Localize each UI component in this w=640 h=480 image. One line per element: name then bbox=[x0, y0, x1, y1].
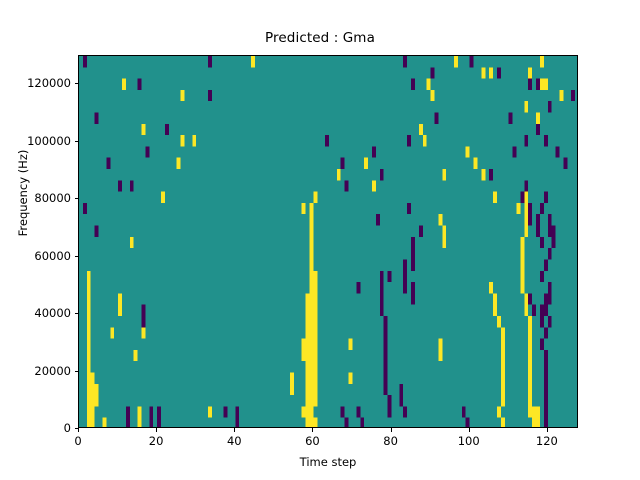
xtick-label-40: 40 bbox=[227, 434, 242, 448]
xtick-label-60: 60 bbox=[305, 434, 320, 448]
ytick-label-120000: 120000 bbox=[0, 76, 71, 90]
xtick-label-120: 120 bbox=[536, 434, 558, 448]
x-axis-label: Time step bbox=[78, 455, 578, 469]
y-axis-label: Frequency (Hz) bbox=[16, 93, 30, 293]
ytick-label-80000: 80000 bbox=[0, 191, 71, 205]
ytick-label-60000: 60000 bbox=[0, 249, 71, 263]
heatmap-image bbox=[79, 56, 578, 428]
xtick-label-0: 0 bbox=[74, 434, 81, 448]
ytick-label-40000: 40000 bbox=[0, 306, 71, 320]
matplotlib-figure: Predicted : Gma 0 20000 40000 60000 8000… bbox=[0, 0, 640, 480]
xtick-label-100: 100 bbox=[458, 434, 480, 448]
xtick-mark-80 bbox=[391, 428, 392, 432]
heatmap-plot-area bbox=[78, 55, 578, 428]
ytick-label-0: 0 bbox=[0, 421, 71, 435]
ytick-label-100000: 100000 bbox=[0, 134, 71, 148]
xtick-mark-40 bbox=[234, 428, 235, 432]
xtick-mark-100 bbox=[469, 428, 470, 432]
xtick-mark-0 bbox=[78, 428, 79, 432]
ytick-label-20000: 20000 bbox=[0, 364, 71, 378]
chart-title: Predicted : Gma bbox=[0, 30, 640, 46]
xtick-label-20: 20 bbox=[149, 434, 164, 448]
xtick-mark-60 bbox=[312, 428, 313, 432]
xtick-label-80: 80 bbox=[383, 434, 398, 448]
xtick-mark-120 bbox=[547, 428, 548, 432]
xtick-mark-20 bbox=[156, 428, 157, 432]
